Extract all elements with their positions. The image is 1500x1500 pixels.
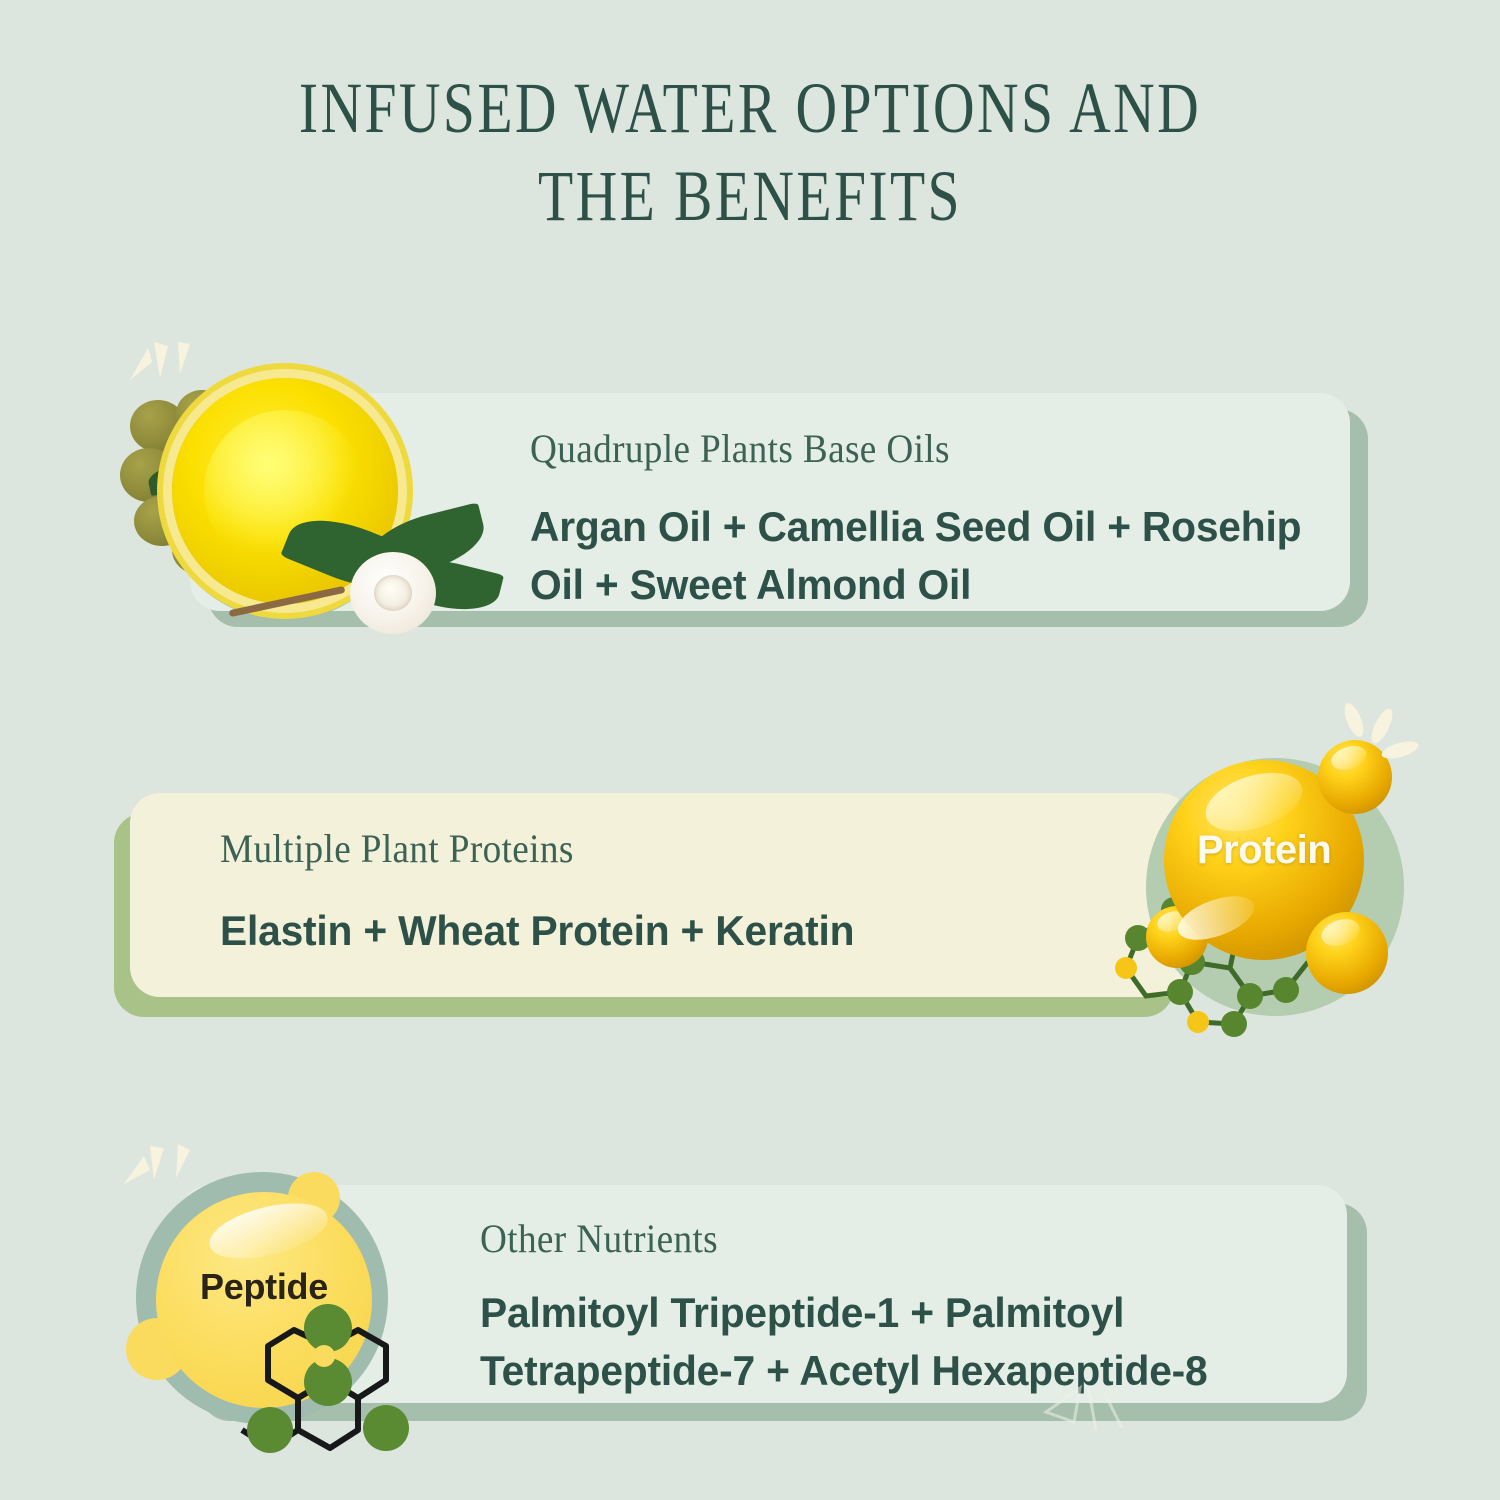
card-content: Quadruple Plants Base Oils Argan Oil + C… (530, 425, 1330, 614)
card-content: Other Nutrients Palmitoyl Tripeptide-1 +… (480, 1215, 1310, 1400)
card-heading: Multiple Plant Proteins (220, 825, 1057, 872)
protein-sphere-label: Protein (1164, 828, 1364, 873)
page-title-line-1: INFUSED WATER OPTIONS AND (299, 68, 1201, 148)
gold-droplet-icon (1306, 912, 1388, 994)
card-content: Multiple Plant Proteins Elastin + Wheat … (220, 825, 1120, 960)
card-body-text: Elastin + Wheat Protein + Keratin (220, 902, 1093, 960)
infographic-canvas: INFUSED WATER OPTIONS ANDTHE BENEFITS Qu… (0, 0, 1500, 1500)
card-heading: Other Nutrients (480, 1215, 1252, 1262)
camellia-flower-icon (350, 552, 436, 634)
benefit-card-plant-proteins: Multiple Plant Proteins Elastin + Wheat … (130, 793, 1190, 997)
card-body-text: Palmitoyl Tripeptide-1 + Palmitoyl Tetra… (480, 1284, 1285, 1400)
sparkle-burst-icon (1040, 1378, 1140, 1450)
page-title-line-2: THE BENEFITS (538, 156, 962, 236)
card-body-text: Argan Oil + Camellia Seed Oil + Rosehip … (530, 498, 1306, 614)
sparkle-burst-icon (1338, 692, 1428, 764)
peptide-sphere-label: Peptide (156, 1266, 372, 1308)
page-title: INFUSED WATER OPTIONS ANDTHE BENEFITS (150, 64, 1350, 240)
sparkle-burst-icon (118, 322, 208, 392)
sparkle-burst-icon (116, 1128, 208, 1198)
card-heading: Quadruple Plants Base Oils (530, 425, 1274, 472)
